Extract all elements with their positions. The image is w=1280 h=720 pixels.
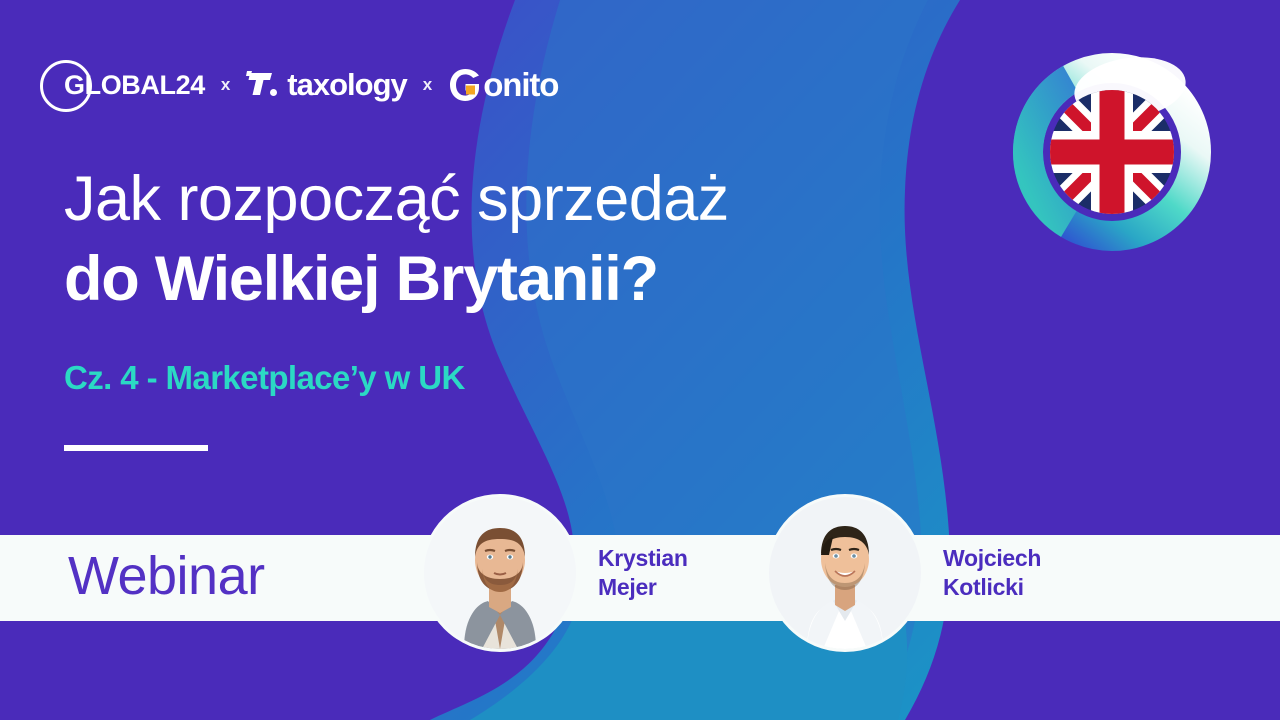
speaker-last-name-1: Mejer — [598, 573, 688, 602]
speaker-first-name-1: Krystian — [598, 545, 688, 571]
headline-block: Jak rozpocząć sprzedaż do Wielkiej Bryta… — [64, 166, 729, 451]
speaker-last-name-2: Kotlicki — [943, 573, 1041, 602]
logo-global24[interactable]: GLOBAL24 — [40, 55, 205, 115]
divider-rule — [64, 445, 208, 451]
partner-logo-row: GLOBAL24 x taxology x onito — [40, 55, 558, 115]
speaker-krystian-mejer: Krystian Mejer — [424, 497, 688, 649]
union-jack-flag-icon — [1050, 90, 1174, 214]
speaker-name-1: Krystian Mejer — [598, 544, 688, 603]
logo-gonito-label: onito — [483, 66, 558, 104]
logo-separator-1: x — [221, 75, 230, 95]
uk-flag-badge — [1012, 52, 1212, 252]
speaker-first-name-2: Wojciech — [943, 545, 1041, 571]
speaker-name-2: Wojciech Kotlicki — [943, 544, 1041, 603]
webinar-promo-banner: GLOBAL24 x taxology x onito Jak rozpoczą… — [0, 0, 1280, 720]
logo-separator-2: x — [423, 75, 432, 95]
subtitle: Cz. 4 - Marketplace’y w UK — [64, 359, 729, 397]
title-line-1: Jak rozpocząć sprzedaż — [64, 166, 729, 233]
logo-global24-label: GLOBAL24 — [64, 70, 205, 101]
speaker-wojciech-kotlicki: Wojciech Kotlicki — [769, 497, 1041, 649]
webinar-label: Webinar — [68, 545, 265, 607]
logo-taxology-label: taxology — [287, 67, 406, 103]
logo-taxology[interactable]: taxology — [246, 67, 406, 103]
avatar-wojciech-kotlicki — [769, 497, 921, 649]
taxology-t-mark-icon — [246, 70, 278, 100]
avatar-krystian-mejer — [424, 497, 576, 649]
gonito-g-mark-icon — [448, 67, 482, 103]
title-line-2: do Wielkiej Brytanii? — [64, 245, 729, 313]
logo-gonito[interactable]: onito — [448, 66, 558, 104]
